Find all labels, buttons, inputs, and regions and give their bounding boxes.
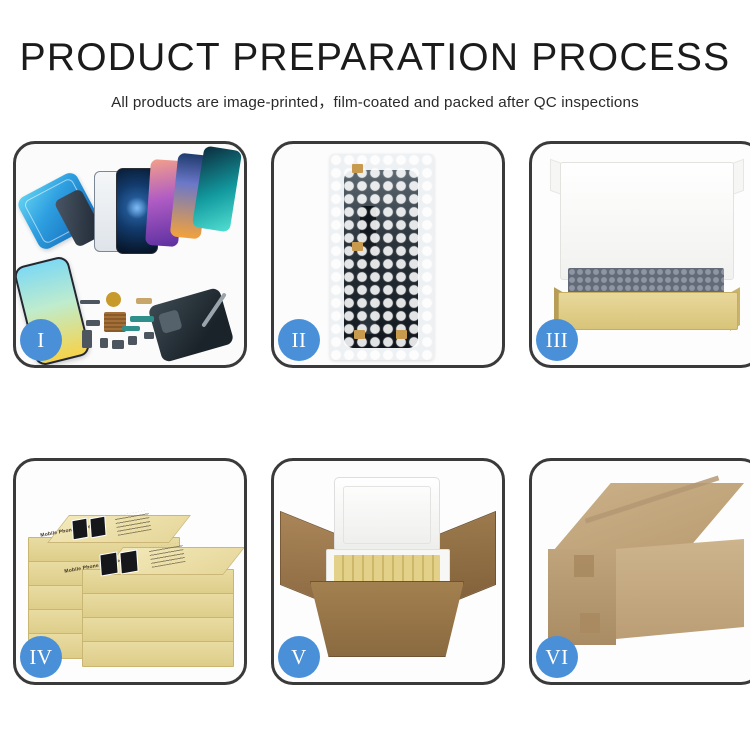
box-window-rear-1	[71, 518, 88, 541]
tape-bottom-right-icon	[396, 330, 407, 339]
carton-body-icon	[310, 581, 464, 657]
page-title: PRODUCT PREPARATION PROCESS	[0, 38, 750, 77]
box-window-rear-2	[89, 516, 106, 539]
step-badge-4: IV	[20, 636, 62, 678]
grey-foam-padding-icon	[568, 268, 724, 294]
camera-part-icon	[112, 340, 124, 349]
process-steps-grid: I II III	[13, 141, 737, 685]
button-part-icon	[100, 338, 108, 348]
step-badge-6: VI	[536, 636, 578, 678]
step-badge-5: V	[278, 636, 320, 678]
bubble-texture-icon	[330, 154, 434, 360]
step-panel-3[interactable]: III	[529, 141, 750, 368]
flex-cable-part-icon	[130, 316, 154, 322]
step-panel-1[interactable]: I	[13, 141, 247, 368]
step-badge-3: III	[536, 319, 578, 361]
step-badge-1: I	[20, 319, 62, 361]
step-panel-6[interactable]: VI	[529, 458, 750, 685]
step-panel-4[interactable]: Mobile Phone Spare Parts Mobile Phone Sp…	[13, 458, 247, 685]
step-panel-2[interactable]: II	[271, 141, 505, 368]
connector-part-icon	[80, 300, 100, 304]
tape-mid-icon	[352, 242, 363, 251]
antenna-part-icon	[122, 326, 140, 331]
carton-right-face-icon	[616, 539, 744, 639]
bracket-part-icon	[136, 298, 152, 304]
stacked-box-front-4	[82, 593, 234, 619]
speaker-part-icon	[106, 292, 121, 307]
stacked-box-front-2	[82, 641, 234, 667]
stacked-box-front-3	[82, 617, 234, 643]
white-foam-sheet-icon	[560, 162, 734, 280]
spare-parts-cluster	[78, 286, 188, 364]
chip-part-icon	[86, 320, 100, 326]
step-badge-2: II	[278, 319, 320, 361]
cable-part-icon	[82, 330, 92, 348]
sim-tray-part-icon	[128, 336, 137, 345]
box-window-front-2	[119, 549, 138, 574]
page-subtitle: All products are image-printed，film-coat…	[0, 90, 750, 112]
page-header: PRODUCT PREPARATION PROCESS All products…	[0, 0, 750, 112]
foam-cooler-lid-icon	[334, 477, 440, 553]
step-panel-5[interactable]: V	[271, 458, 505, 685]
carton-tab-lower-icon	[580, 613, 600, 633]
tape-top-icon	[352, 164, 363, 173]
bubble-wrap-bag-icon	[330, 154, 434, 360]
tape-bottom-left-icon	[354, 330, 365, 339]
vibrator-part-icon	[144, 332, 154, 339]
yellow-box-front-icon	[558, 292, 738, 330]
box-window-front-1	[99, 551, 118, 576]
carton-tab-upper-icon	[574, 555, 594, 577]
